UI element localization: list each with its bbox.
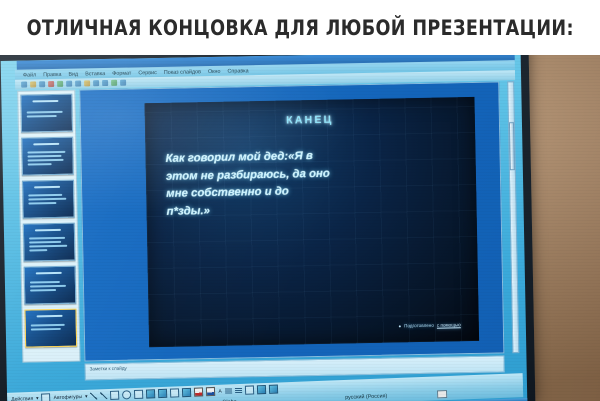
powerpoint-window: Файл Правка Вид Вставка Формат Сервис По… bbox=[11, 55, 522, 381]
textbox-tool-icon[interactable] bbox=[134, 390, 143, 399]
meme-image: ОТЛИЧНАЯ КОНЦОВКА ДЛЯ ЛЮБОЙ ПРЕЗЕНТАЦИИ:… bbox=[0, 0, 600, 401]
wordart-icon[interactable] bbox=[146, 389, 155, 398]
insert-table-icon[interactable] bbox=[120, 80, 126, 86]
screen-desktop: Файл Правка Вид Вставка Формат Сервис По… bbox=[1, 55, 528, 401]
save-icon[interactable] bbox=[39, 81, 45, 87]
slide-thumbnail-pane[interactable] bbox=[17, 90, 80, 363]
font-color-icon[interactable]: A bbox=[218, 388, 222, 394]
ellipse-tool-icon[interactable] bbox=[122, 390, 131, 399]
spellcheck-icon[interactable] bbox=[57, 81, 63, 87]
slide-thumbnail[interactable] bbox=[23, 223, 76, 262]
print-icon[interactable] bbox=[48, 81, 54, 87]
slide-thumbnail[interactable] bbox=[22, 180, 75, 219]
monitor-photo: Файл Правка Вид Вставка Формат Сервис По… bbox=[0, 55, 600, 401]
meme-caption-bar: ОТЛИЧНАЯ КОНЦОВКА ДЛЯ ЛЮБОЙ ПРЕЗЕНТАЦИИ: bbox=[0, 0, 600, 55]
draw-autoshapes-menu[interactable]: Автофигуры bbox=[54, 394, 83, 401]
slide-thumbnail-selected[interactable] bbox=[24, 309, 77, 348]
arrow-style-icon[interactable] bbox=[245, 385, 254, 394]
clipart-icon[interactable] bbox=[170, 388, 179, 397]
bullet-icon bbox=[399, 325, 401, 327]
copy-icon[interactable] bbox=[75, 80, 81, 86]
menu-item-view[interactable]: Вид bbox=[68, 71, 78, 77]
chevron-down-icon[interactable]: ▾ bbox=[36, 395, 39, 401]
chevron-down-icon[interactable]: ▾ bbox=[85, 393, 88, 399]
slide-edit-area[interactable]: КАНЕЦ Как говорил мой дед:«Я в этом не р… bbox=[79, 81, 504, 361]
slide-footer-link[interactable]: с помощью bbox=[437, 322, 461, 327]
paste-icon[interactable] bbox=[84, 80, 90, 86]
new-file-icon[interactable] bbox=[21, 82, 27, 88]
redo-icon[interactable] bbox=[102, 80, 108, 86]
dash-style-icon[interactable] bbox=[235, 387, 242, 394]
menu-item-tools[interactable]: Сервис bbox=[138, 70, 157, 76]
draw-actions-menu[interactable]: Действия bbox=[11, 395, 33, 401]
slide-grid bbox=[145, 97, 480, 347]
cut-icon[interactable] bbox=[66, 81, 72, 87]
menu-item-edit[interactable]: Правка bbox=[43, 71, 61, 77]
fill-color-icon[interactable] bbox=[194, 387, 203, 396]
slide-body-text[interactable]: Как говорил мой дед:«Я в этом не разбира… bbox=[165, 145, 456, 221]
line-style-icon[interactable] bbox=[225, 387, 232, 394]
menu-item-file[interactable]: Файл bbox=[23, 72, 36, 78]
scrollbar-thumb[interactable] bbox=[509, 122, 515, 170]
menu-item-insert[interactable]: Вставка bbox=[85, 71, 105, 77]
menu-item-slideshow[interactable]: Показ слайдов bbox=[164, 69, 201, 76]
menu-item-help[interactable]: Справка bbox=[227, 68, 248, 74]
picture-icon[interactable] bbox=[182, 388, 191, 397]
select-arrow-icon[interactable] bbox=[41, 393, 50, 401]
meme-caption-text: ОТЛИЧНАЯ КОНЦОВКА ДЛЯ ЛЮБОЙ ПРЕЗЕНТАЦИИ: bbox=[26, 16, 573, 40]
open-folder-icon[interactable] bbox=[30, 81, 36, 87]
menu-item-window[interactable]: Окно bbox=[208, 68, 221, 74]
arrow-tool-icon[interactable] bbox=[100, 392, 107, 399]
shadow-style-icon[interactable] bbox=[257, 385, 266, 394]
slide-thumbnail[interactable] bbox=[20, 94, 73, 133]
line-color-icon[interactable] bbox=[206, 387, 215, 396]
insert-chart-icon[interactable] bbox=[111, 80, 117, 86]
rectangle-tool-icon[interactable] bbox=[110, 391, 119, 400]
vertical-scrollbar[interactable] bbox=[507, 81, 519, 353]
diagram-icon[interactable] bbox=[158, 389, 167, 398]
status-language[interactable]: русский (Россия) bbox=[345, 393, 387, 401]
undo-icon[interactable] bbox=[93, 80, 99, 86]
slide-thumbnail[interactable] bbox=[21, 137, 74, 176]
spellcheck-status-icon[interactable] bbox=[437, 390, 447, 398]
line-tool-icon[interactable] bbox=[90, 392, 97, 399]
3d-style-icon[interactable] bbox=[269, 385, 278, 394]
menu-item-format[interactable]: Формат bbox=[112, 70, 131, 76]
slide-footer-text: Подготовлено bbox=[404, 323, 434, 329]
slide-canvas[interactable]: КАНЕЦ Как говорил мой дед:«Я в этом не р… bbox=[145, 97, 480, 347]
slide-thumbnail[interactable] bbox=[24, 266, 77, 305]
